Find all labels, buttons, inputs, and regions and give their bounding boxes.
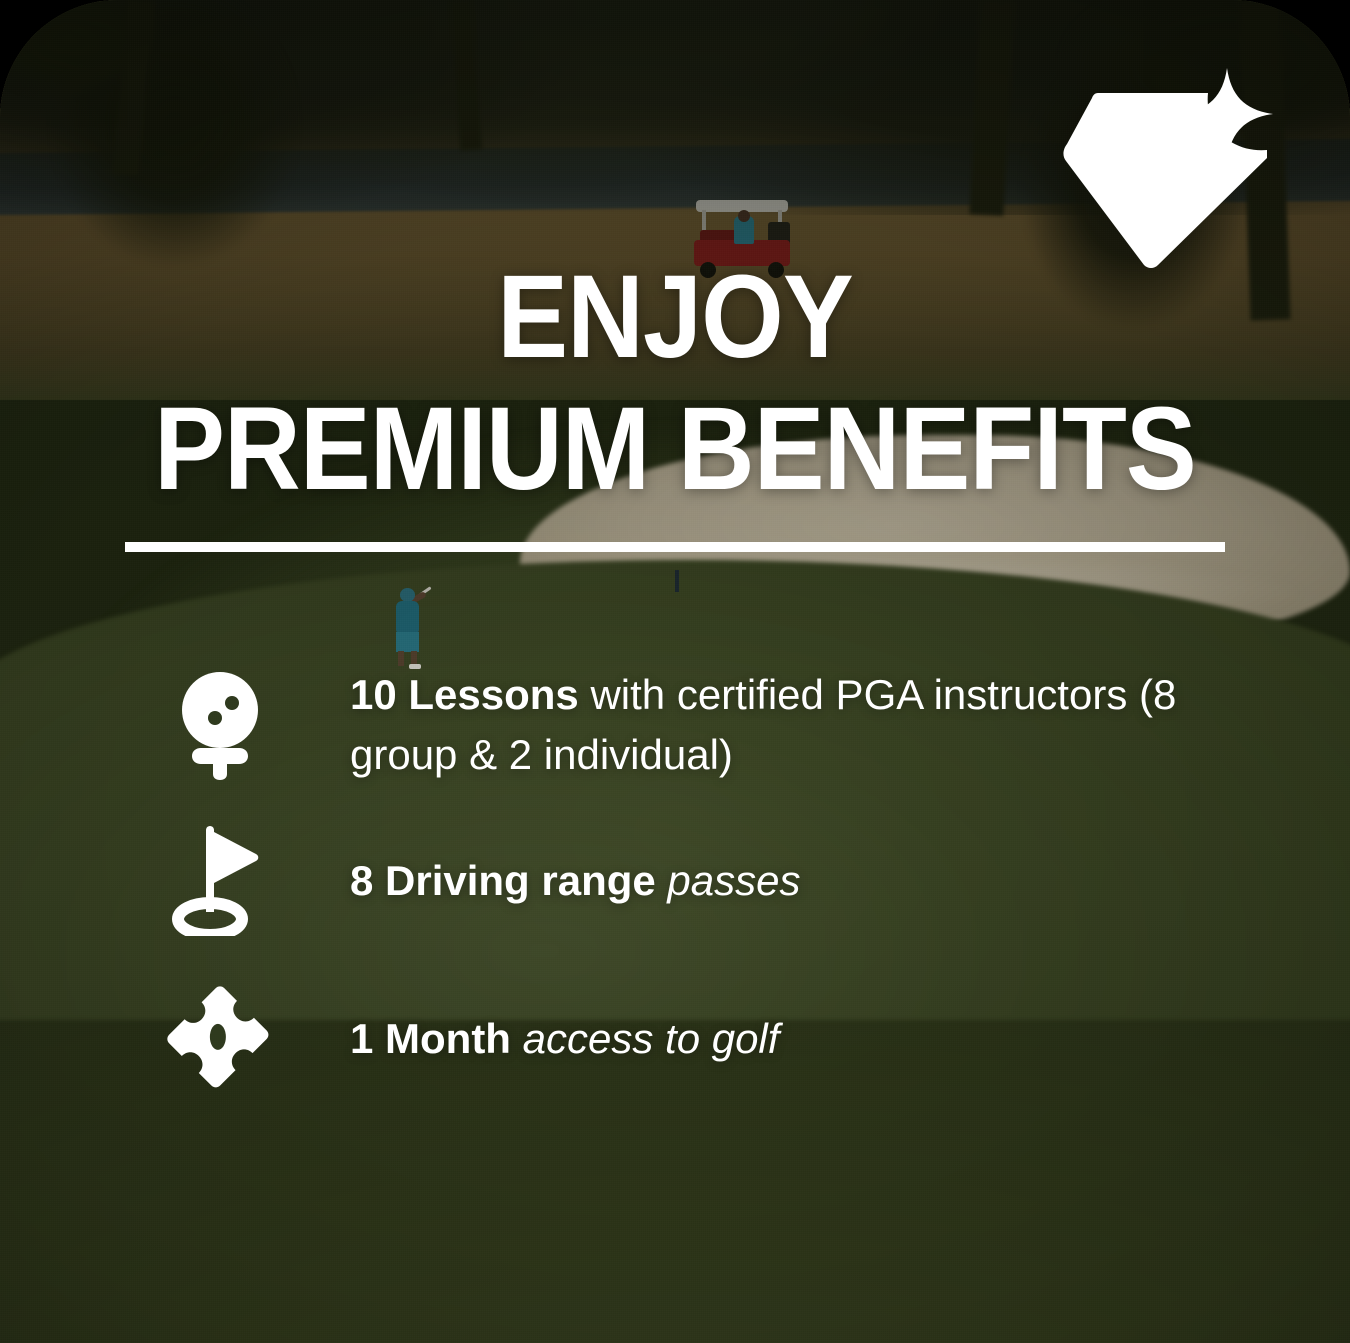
list-item: 10 Lessons with certified PGA instructor…	[0, 665, 1350, 784]
golf-flag-in-hole-icon	[165, 826, 275, 936]
ticket-voucher-icon	[165, 984, 275, 1094]
benefit-rest: passes	[656, 857, 801, 904]
benefit-highlight: 8 Driving range	[350, 857, 656, 904]
divider-rule	[125, 542, 1225, 552]
poster-card: ENJOY PREMIUM BENEFITS	[0, 0, 1350, 1343]
poster-content: ENJOY PREMIUM BENEFITS	[0, 0, 1350, 1343]
list-item-label: 8 Driving range passes	[350, 851, 801, 911]
headline-line-1: ENJOY	[68, 263, 1283, 373]
promo-poster: ENJOY PREMIUM BENEFITS	[0, 0, 1350, 1343]
list-item: 8 Driving range passes	[0, 822, 1350, 940]
list-item-label: 10 Lessons with certified PGA instructor…	[350, 665, 1180, 784]
headline-line-2: PREMIUM BENEFITS	[68, 395, 1283, 505]
list-item-label: 1 Month access to golf	[350, 1009, 779, 1069]
diamond-gem-sparkle-icon	[1055, 60, 1285, 275]
benefit-rest: access to golf	[511, 1015, 779, 1062]
benefit-highlight: 10 Lessons	[350, 671, 579, 718]
page-title: ENJOY PREMIUM BENEFITS	[0, 263, 1350, 504]
benefit-highlight: 1 Month	[350, 1015, 511, 1062]
golf-ball-on-tee-icon	[165, 670, 275, 780]
list-item: 1 Month access to golf	[0, 980, 1350, 1098]
benefits-list: 10 Lessons with certified PGA instructor…	[0, 665, 1350, 1142]
